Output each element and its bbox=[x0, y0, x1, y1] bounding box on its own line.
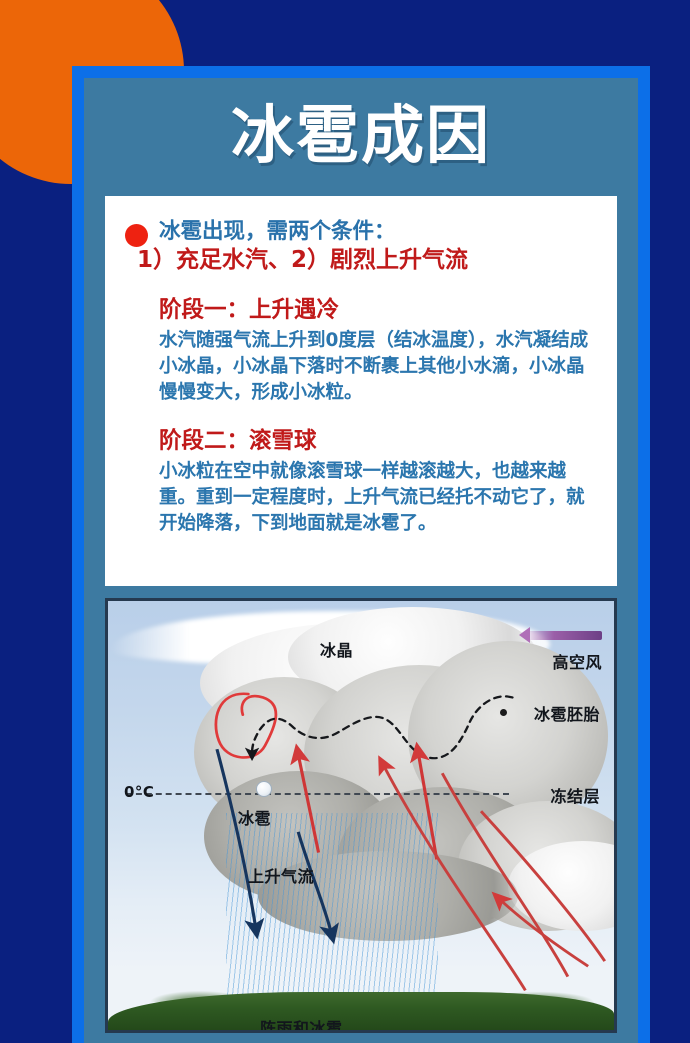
label-updraft: 上升气流 bbox=[248, 863, 314, 887]
page-title: 冰雹成因 bbox=[84, 104, 638, 167]
label-hail-embryo: 冰雹胚胎 bbox=[534, 701, 600, 725]
inflow-arrow-low bbox=[500, 899, 589, 966]
stage-one-block: 阶段一：上升遇冷 水汽随强气流上升到0度层（结冰温度），水汽凝结成小冰晶，小冰晶… bbox=[125, 296, 597, 406]
lead-conditions-block: 冰雹出现，需两个条件： 1）充足水汽、2）剧烈上升气流 bbox=[125, 218, 597, 275]
inflow-streamline bbox=[481, 811, 605, 961]
stage-two-heading: 阶段二：滚雪球 bbox=[159, 427, 597, 456]
lead-condition-list: 1）充足水汽、2）剧烈上升气流 bbox=[137, 246, 597, 276]
poster-frame: 冰雹成因 冰雹出现，需两个条件： 1）充足水汽、2）剧烈上升气流 阶段一：上升遇… bbox=[72, 66, 650, 1043]
downdraft-arrow bbox=[217, 749, 256, 928]
diagram-vector-overlay bbox=[108, 601, 614, 1030]
diagram-canvas: 冰晶 高空风 冰雹胚胎 0°C 冻结层 冰雹 上升气流 阵雨和冰雹 bbox=[108, 601, 614, 1030]
poster-root: 冰雹成因 冰雹出现，需两个条件： 1）充足水汽、2）剧烈上升气流 阶段一：上升遇… bbox=[0, 0, 690, 1043]
stage-one-heading: 阶段一：上升遇冷 bbox=[159, 296, 597, 325]
bullet-dot-icon bbox=[125, 224, 148, 247]
label-zero-degree: 0°C bbox=[124, 783, 154, 801]
label-upper-wind: 高空风 bbox=[552, 649, 602, 673]
label-shower-and-hail: 阵雨和冰雹 bbox=[260, 1015, 343, 1030]
explanation-card: 冰雹出现，需两个条件： 1）充足水汽、2）剧烈上升气流 阶段一：上升遇冷 水汽随… bbox=[105, 196, 617, 586]
lead-condition-intro: 冰雹出现，需两个条件： bbox=[159, 218, 597, 246]
label-hail: 冰雹 bbox=[238, 805, 271, 829]
label-freezing-level: 冻结层 bbox=[550, 783, 600, 807]
stage-two-body: 小冰粒在空中就像滚雪球一样越滚越大，也越来越重。重到一定程度时，上升气流已经托不… bbox=[159, 459, 589, 538]
label-ice-crystal: 冰晶 bbox=[320, 637, 353, 661]
poster-header: 冰雹成因 bbox=[84, 78, 638, 194]
inflow-streamline bbox=[383, 765, 525, 991]
stage-two-block: 阶段二：滚雪球 小冰粒在空中就像滚雪球一样越滚越大，也越来越重。重到一定程度时，… bbox=[125, 427, 597, 537]
inflow-streamline bbox=[442, 773, 568, 976]
stage-one-body: 水汽随强气流上升到0度层（结冰温度），水汽凝结成小冰晶，小冰晶下落时不断裹上其他… bbox=[159, 328, 589, 407]
poster-card: 冰雹成因 冰雹出现，需两个条件： 1）充足水汽、2）剧烈上升气流 阶段一：上升遇… bbox=[84, 78, 638, 1043]
hail-formation-diagram: 冰晶 高空风 冰雹胚胎 0°C 冻结层 冰雹 上升气流 阵雨和冰雹 bbox=[105, 598, 617, 1033]
recirculation-loop bbox=[216, 694, 276, 758]
hail-trajectory-path bbox=[252, 696, 512, 758]
